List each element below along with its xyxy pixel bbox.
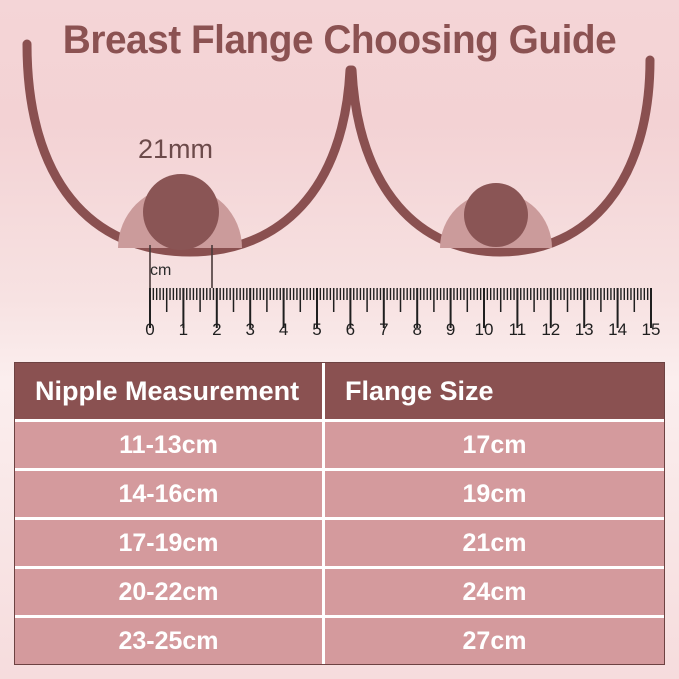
table-header-row: Nipple Measurement Flange Size — [15, 363, 664, 419]
ruler-number: 14 — [608, 320, 627, 340]
table-row: 20-22cm24cm — [15, 566, 664, 615]
cell-flange-size: 27cm — [325, 618, 664, 664]
cell-flange-size: 19cm — [325, 471, 664, 517]
ruler-number: 0 — [145, 320, 154, 340]
ruler-number: 15 — [642, 320, 661, 340]
cell-nipple-measurement: 17-19cm — [15, 520, 325, 566]
flange-size-table: Nipple Measurement Flange Size 11-13cm17… — [14, 362, 665, 665]
table-body: 11-13cm17cm14-16cm19cm17-19cm21cm20-22cm… — [15, 419, 664, 664]
table-row: 14-16cm19cm — [15, 468, 664, 517]
page-title: Breast Flange Choosing Guide — [10, 18, 669, 63]
table-row: 11-13cm17cm — [15, 419, 664, 468]
cell-flange-size: 21cm — [325, 520, 664, 566]
cell-nipple-measurement: 14-16cm — [15, 471, 325, 517]
infographic-root: Breast Flange Choosing Guide 21mm cm 012… — [0, 0, 679, 679]
ruler-number: 3 — [245, 320, 254, 340]
ruler-unit-label: cm — [150, 262, 171, 280]
cell-nipple-measurement: 11-13cm — [15, 422, 325, 468]
ruler-number: 10 — [475, 320, 494, 340]
cell-nipple-measurement: 23-25cm — [15, 618, 325, 664]
ruler-number: 1 — [179, 320, 188, 340]
ruler-number: 9 — [446, 320, 455, 340]
table-row: 23-25cm27cm — [15, 615, 664, 664]
column-header-flange-size: Flange Size — [325, 363, 664, 419]
ruler-number: 5 — [312, 320, 321, 340]
ruler-number: 8 — [412, 320, 421, 340]
cell-flange-size: 17cm — [325, 422, 664, 468]
ruler-number: 6 — [346, 320, 355, 340]
ruler-number: 2 — [212, 320, 221, 340]
right-nipple — [464, 183, 528, 247]
table-row: 17-19cm21cm — [15, 517, 664, 566]
ruler-number: 13 — [575, 320, 594, 340]
cell-nipple-measurement: 20-22cm — [15, 569, 325, 615]
ruler-number: 4 — [279, 320, 288, 340]
left-nipple — [143, 174, 219, 250]
column-header-nipple-measurement: Nipple Measurement — [15, 363, 325, 419]
nipple-size-label: 21mm — [138, 134, 213, 165]
ruler-number: 12 — [541, 320, 560, 340]
cell-flange-size: 24cm — [325, 569, 664, 615]
ruler-number: 11 — [509, 320, 527, 340]
ruler-number: 7 — [379, 320, 388, 340]
ruler-number-row: 0123456789101112131415 — [0, 320, 679, 344]
